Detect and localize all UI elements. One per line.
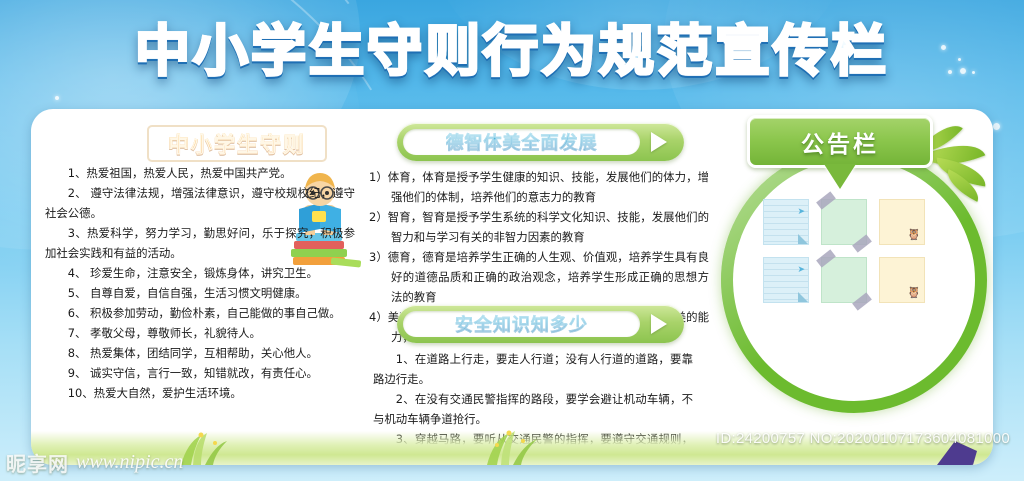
- dogear-icon: [798, 234, 808, 244]
- development-heading-text: 德智体美全面发展: [446, 129, 598, 155]
- development-item: 3）德育，德育是培养学生正确的人生观、价值观，培养学生具有良好的道德品质和正确的…: [369, 247, 709, 307]
- safety-heading-inner: 安全知识知多少: [403, 311, 640, 337]
- sticky-note-blue[interactable]: ➤: [763, 199, 809, 245]
- play-arrow-icon[interactable]: [640, 132, 678, 152]
- development-heading-pill[interactable]: 德智体美全面发展: [397, 123, 684, 161]
- development-heading-inner: 德智体美全面发展: [403, 129, 640, 155]
- cloud-icon: [839, 345, 869, 358]
- sticky-note-blue[interactable]: ➤: [763, 257, 809, 303]
- rule-item: 6、 积极参加劳动，勤俭朴素，自己能做的事自己做。: [45, 303, 355, 323]
- sticky-note-cream[interactable]: 🦉: [879, 257, 925, 303]
- image-id-watermark: ID:24200757 NO:20200107173604081000: [716, 430, 1010, 447]
- rocket-icon: ➤: [797, 264, 805, 275]
- rule-item: 8、 热爱集体，团结同学，互相帮助，关心他人。: [45, 343, 355, 363]
- site-watermark: 昵享网 www.nipic.cn: [6, 448, 183, 477]
- rocket-icon: ➤: [797, 206, 805, 217]
- content-card: 中小学生守则: [31, 109, 993, 465]
- site-domain: www.nipic.cn: [76, 451, 183, 474]
- owl-icon: 🦉: [907, 228, 921, 241]
- banner-tail: [824, 164, 856, 189]
- safety-heading-text: 安全知识知多少: [455, 311, 588, 337]
- cloud-icon: [913, 355, 939, 367]
- development-item: 2）智育，智育是授予学生系统的科学文化知识、技能，发展他们的智力和与学习有关的非…: [369, 207, 709, 247]
- rule-item: 7、 孝敬父母，尊敬师长，礼貌待人。: [45, 323, 355, 343]
- safety-item: 1、在道路上行走，要走人行道；没有人行道的道路，要靠路边行走。: [373, 349, 693, 389]
- owl-icon: 🦉: [907, 286, 921, 299]
- rule-item: 3、热爱科学，努力学习，勤思好问，乐于探究，积极参加社会实践和有益的活动。: [45, 223, 355, 263]
- bubble-dot: [55, 96, 59, 100]
- notice-board-title: 公告栏: [801, 125, 879, 159]
- safety-item: 2、在没有交通民警指挥的路段，要学会避让机动车辆，不与机动车辆争道抢行。: [373, 389, 693, 429]
- rule-item: 10、热爱大自然，爱护生活环境。: [45, 383, 355, 403]
- development-item: 1）体育，体育是授予学生健康的知识、技能，发展他们的体力，增强他们的体制，培养他…: [369, 167, 709, 207]
- rule-item: 1、热爱祖国，热爱人民，热爱中国共产党。: [45, 163, 355, 183]
- rules-heading-text: 中小学生守则: [168, 129, 306, 159]
- sticky-note-green[interactable]: [821, 199, 867, 245]
- rule-item: 9、 诚实守信，言行一致，知错就改，有责任心。: [45, 363, 355, 383]
- play-arrow-icon[interactable]: [640, 314, 678, 334]
- sticky-note-cream[interactable]: 🦉: [879, 199, 925, 245]
- poster-canvas: 中小学生守则行为规范宣传栏 中小学生守则: [0, 0, 1024, 481]
- rule-item: 5、 自尊自爱，自信自强，生活习惯文明健康。: [45, 283, 355, 303]
- bubble-dot: [993, 123, 1000, 130]
- sticky-note-green[interactable]: [821, 257, 867, 303]
- dogear-icon: [798, 292, 808, 302]
- rules-heading-box: 中小学生守则: [147, 125, 327, 162]
- rule-item: 2、 遵守法律法规，增强法律意识，遵守校规校纪，遵守社会公德。: [45, 183, 355, 223]
- site-logo: 昵享网: [6, 448, 69, 477]
- safety-heading-pill[interactable]: 安全知识知多少: [397, 305, 684, 343]
- page-title: 中小学生守则行为规范宣传栏: [0, 24, 1024, 79]
- rules-list: 1、热爱祖国，热爱人民，热爱中国共产党。 2、 遵守法律法规，增强法律意识，遵守…: [45, 163, 355, 403]
- notice-board-banner[interactable]: 公告栏: [747, 115, 933, 168]
- rule-item: 4、 珍爱生命，注意安全，锻炼身体，讲究卫生。: [45, 263, 355, 283]
